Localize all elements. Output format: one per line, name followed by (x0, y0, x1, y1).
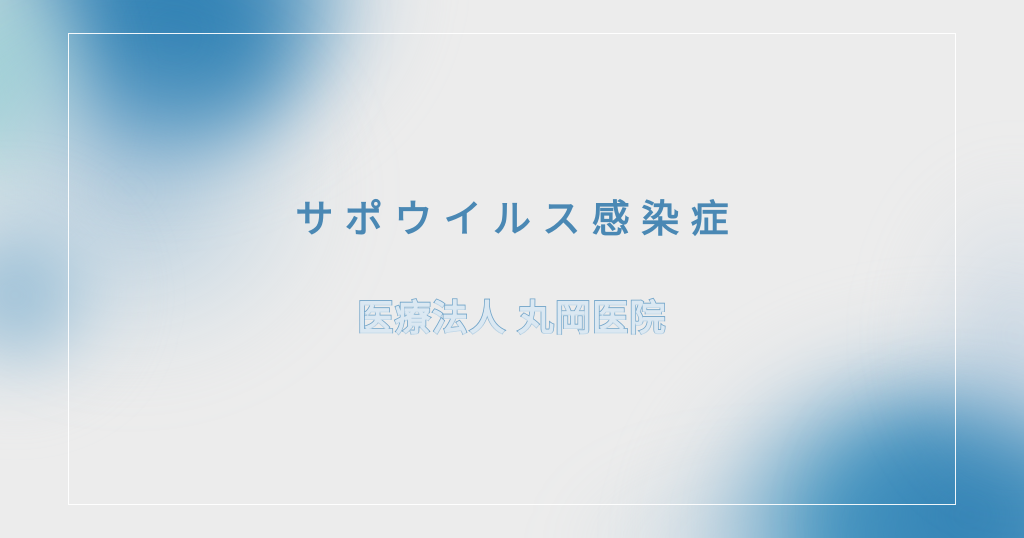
presentation-slide: サポウイルス感染症 医療法人 丸岡医院 (0, 0, 1024, 538)
slide-content: サポウイルス感染症 医療法人 丸岡医院 (0, 0, 1024, 538)
slide-subtitle-organization: 医療法人 丸岡医院 (357, 298, 666, 338)
slide-title: サポウイルス感染症 (284, 200, 740, 242)
